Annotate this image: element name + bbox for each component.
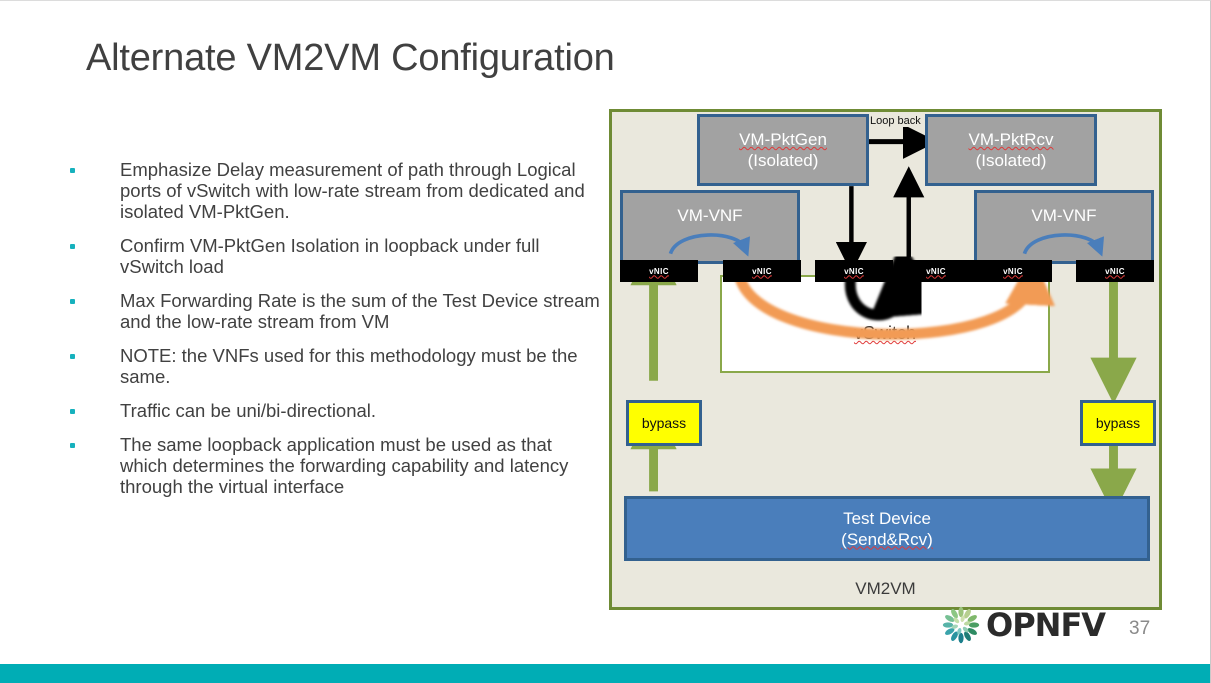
opnfv-wordmark: OPNFV <box>986 606 1105 644</box>
vswitch-label: vSwitch <box>722 323 1048 344</box>
vm2vm-diagram: vSwitch <box>609 109 1162 610</box>
bullet-marker-icon <box>70 443 75 448</box>
bullet-marker-icon <box>70 409 75 414</box>
page-number: 37 <box>1129 618 1150 640</box>
list-item: Emphasize Delay measurement of path thro… <box>62 159 602 222</box>
list-item: The same loopback application must be us… <box>62 434 602 497</box>
vnic-box-1[interactable]: vNIC <box>620 260 698 282</box>
vnf-left-internal-arrow <box>623 193 797 261</box>
vswitch-box: vSwitch <box>720 275 1050 373</box>
vnic-box-2[interactable]: vNIC <box>723 260 801 282</box>
bypass-right-box[interactable]: bypass <box>1080 400 1156 446</box>
slide-canvas: Alternate VM2VM Configuration Emphasize … <box>0 0 1211 683</box>
list-item-label: Emphasize Delay measurement of path thro… <box>120 159 602 222</box>
bullet-marker-icon <box>70 244 75 249</box>
list-item-label: Confirm VM-PktGen Isolation in loopback … <box>120 235 602 277</box>
vm-vnf-right-box[interactable]: VM-VNF <box>974 190 1154 264</box>
vm-pktrcv-box[interactable]: VM-PktRcv (Isolated) <box>925 114 1097 186</box>
bullet-marker-icon <box>70 168 75 173</box>
vm-pktgen-label-2: (Isolated) <box>748 150 819 171</box>
vm-pktrcv-label-1: VM-PktRcv <box>969 129 1054 150</box>
list-item: Confirm VM-PktGen Isolation in loopback … <box>62 235 602 277</box>
test-device-box[interactable]: Test Device (Send&Rcv) <box>624 496 1150 561</box>
vnic-box-4[interactable]: vNIC <box>897 260 975 282</box>
vm-pktgen-label-1: VM-PktGen <box>739 129 827 150</box>
list-item: Max Forwarding Rate is the sum of the Te… <box>62 290 602 332</box>
vm-pktgen-box[interactable]: VM-PktGen (Isolated) <box>697 114 869 186</box>
list-item: NOTE: the VNFs used for this methodology… <box>62 345 602 387</box>
list-item-label: Max Forwarding Rate is the sum of the Te… <box>120 290 602 332</box>
footer-accent-bar <box>0 664 1211 683</box>
test-device-label-1: Test Device <box>843 508 931 529</box>
bullet-marker-icon <box>70 299 75 304</box>
bypass-left-box[interactable]: bypass <box>626 400 702 446</box>
list-item-label: Traffic can be uni/bi-directional. <box>120 400 602 421</box>
list-item: Traffic can be uni/bi-directional. <box>62 400 602 421</box>
loopback-label: Loop back <box>870 115 921 127</box>
test-device-label-2: (Send&Rcv) <box>841 529 933 550</box>
page-title: Alternate VM2VM Configuration <box>86 37 615 80</box>
opnfv-burst-icon <box>940 606 982 644</box>
vnic-box-5[interactable]: vNIC <box>974 260 1052 282</box>
vnf-right-internal-arrow <box>977 193 1151 261</box>
list-item-label: The same loopback application must be us… <box>120 434 602 497</box>
list-item-label: NOTE: the VNFs used for this methodology… <box>120 345 602 387</box>
vm-vnf-left-box[interactable]: VM-VNF <box>620 190 800 264</box>
vnic-box-3[interactable]: vNIC <box>815 260 893 282</box>
diagram-frame-label: VM2VM <box>612 579 1159 599</box>
bullet-list: Emphasize Delay measurement of path thro… <box>62 159 602 510</box>
vnic-box-6[interactable]: vNIC <box>1076 260 1154 282</box>
bullet-marker-icon <box>70 354 75 359</box>
opnfv-logo: OPNFV <box>940 606 1105 644</box>
vm-pktrcv-label-2: (Isolated) <box>976 150 1047 171</box>
